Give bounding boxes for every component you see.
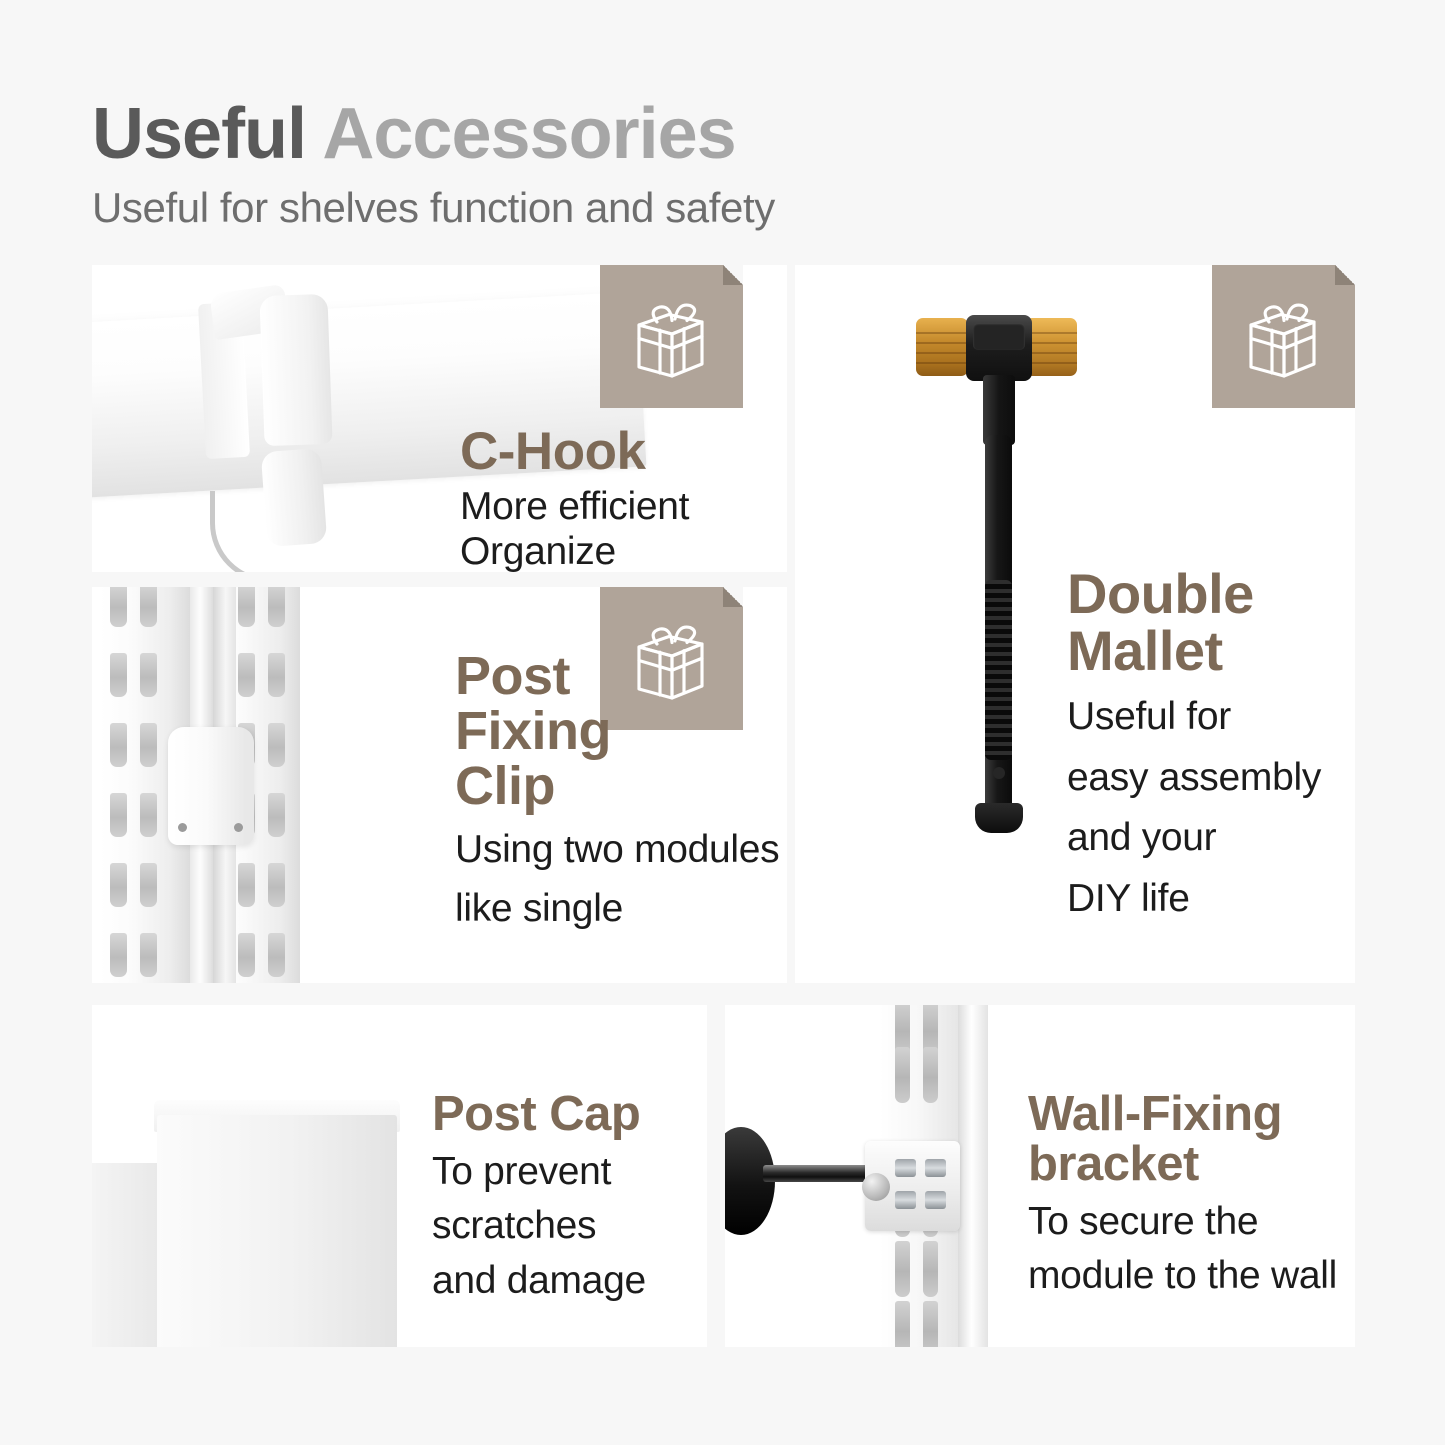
slot-group	[110, 723, 166, 767]
card-heading-line: Fixing	[455, 704, 779, 759]
post-slot	[110, 653, 127, 697]
card-description-line: To prevent	[432, 1150, 646, 1194]
post-slot	[110, 723, 127, 767]
card-description-line: Useful for	[1067, 695, 1321, 739]
post-slot	[110, 793, 127, 837]
mallet-ring	[916, 362, 968, 364]
slot-group	[110, 793, 166, 837]
card-heading: Post Cap	[432, 1090, 646, 1140]
post-behind	[92, 1163, 162, 1347]
card-description-line: module to the wall	[1028, 1254, 1337, 1298]
card-description-line: easy assembly	[1067, 756, 1321, 800]
hook-body	[259, 294, 332, 446]
card-description-line: and your	[1067, 816, 1321, 860]
post-slot	[140, 863, 157, 907]
post-slot	[923, 1047, 938, 1103]
slot-group	[110, 933, 166, 977]
mallet-face-right	[1025, 318, 1077, 376]
card-c-hook: C-Hook More efficient Organize	[92, 265, 787, 572]
gift-box-icon	[1236, 289, 1332, 385]
mallet-ring	[1025, 332, 1077, 334]
slot-group	[110, 587, 166, 627]
post-slot	[140, 793, 157, 837]
card-description-line: To secure the	[1028, 1200, 1337, 1244]
page-title: Useful Accessories	[92, 98, 1192, 170]
card-heading-line: Wall-Fixing	[1028, 1090, 1337, 1140]
post-slot	[140, 653, 157, 697]
badge-folded-corner	[1335, 265, 1355, 285]
card-description-line: DIY life	[1067, 877, 1321, 921]
bracket-bolt	[862, 1173, 890, 1201]
post-slot	[238, 587, 255, 627]
mallet-handle-end	[975, 803, 1023, 833]
post-slot	[238, 653, 255, 697]
text-block-post-fixing-clip: Post Fixing Clip Using two modules like …	[455, 649, 779, 931]
card-heading-line: Mallet	[1067, 622, 1321, 679]
infographic-page: Useful Accessories Useful for shelves fu…	[0, 0, 1445, 1445]
mallet-grip	[985, 580, 1012, 760]
card-heading-line: bracket	[1028, 1140, 1337, 1190]
card-description-line: Using two modules	[455, 828, 779, 872]
post-fixing-clip-part	[168, 727, 254, 845]
text-block-wall-fixing-bracket: Wall-Fixing bracket To secure the module…	[1028, 1090, 1337, 1299]
badge-folded-corner	[723, 587, 743, 607]
post-slot	[895, 1301, 910, 1347]
page-header: Useful Accessories Useful for shelves fu…	[92, 98, 1192, 232]
mallet-ring	[916, 342, 968, 344]
mallet-ring	[916, 332, 968, 334]
card-description-line: like single	[455, 887, 779, 931]
card-post-fixing-clip: Post Fixing Clip Using two modules like …	[92, 587, 787, 983]
post-rail	[958, 1005, 988, 1347]
post-slot	[238, 863, 255, 907]
slot-group	[238, 653, 294, 697]
slot-group	[110, 653, 166, 697]
slot-group	[238, 933, 294, 977]
post-slot	[268, 723, 285, 767]
bracket-hole	[895, 1191, 916, 1209]
post-slot	[110, 587, 127, 627]
mallet-head-plate	[973, 323, 1025, 350]
bracket-hole	[895, 1159, 916, 1177]
card-description-line: and damage	[432, 1259, 646, 1303]
badge-folded-corner	[723, 265, 743, 285]
post-slot	[895, 1241, 910, 1297]
title-part-accessories: Accessories	[322, 94, 735, 174]
page-subtitle: Useful for shelves function and safety	[92, 184, 1192, 232]
slot-group	[238, 587, 294, 627]
post-slot	[140, 723, 157, 767]
card-heading-line: Double	[1067, 565, 1321, 622]
mallet-face-left	[916, 318, 968, 376]
text-block-post-cap: Post Cap To prevent scratches and damage	[432, 1090, 646, 1303]
bracket-hole	[925, 1159, 946, 1177]
post-slot	[268, 933, 285, 977]
hook-wire	[210, 491, 302, 572]
title-part-useful: Useful	[92, 94, 306, 174]
post-slot	[268, 863, 285, 907]
gift-badge	[600, 265, 743, 408]
clip-screw-hole	[178, 823, 187, 832]
mallet-ring	[1025, 362, 1077, 364]
post-slot	[238, 933, 255, 977]
post-slot	[268, 793, 285, 837]
card-wall-fixing-bracket: Wall-Fixing bracket To secure the module…	[725, 1005, 1355, 1347]
slot-group	[238, 863, 294, 907]
mallet-ring	[916, 352, 968, 354]
card-double-mallet: Double Mallet Useful for easy assembly a…	[795, 265, 1355, 983]
mallet-hang-hole	[993, 767, 1005, 779]
post-slot	[923, 1241, 938, 1297]
post-slot	[110, 933, 127, 977]
mallet-ring	[1025, 342, 1077, 344]
card-post-cap: Post Cap To prevent scratches and damage	[92, 1005, 707, 1347]
twin-posts	[92, 587, 307, 983]
card-heading: C-Hook	[460, 425, 787, 479]
card-description-line: scratches	[432, 1204, 646, 1248]
card-heading-line: Clip	[455, 759, 779, 814]
gift-box-icon	[624, 289, 720, 385]
mallet-ring	[1025, 352, 1077, 354]
slot-group	[110, 863, 166, 907]
post-slot	[268, 587, 285, 627]
clip-screw-hole	[234, 823, 243, 832]
post-slot	[923, 1301, 938, 1347]
card-heading-line: Post	[455, 649, 779, 704]
post-slot	[140, 933, 157, 977]
text-block-c-hook: C-Hook More efficient Organize	[460, 425, 787, 572]
bracket-hole	[925, 1191, 946, 1209]
card-description: More efficient Organize	[460, 485, 787, 572]
gift-badge	[1212, 265, 1355, 408]
post-slot	[268, 653, 285, 697]
post-slot	[895, 1047, 910, 1103]
post-cap-body	[157, 1115, 397, 1347]
post-slot	[110, 863, 127, 907]
text-block-double-mallet: Double Mallet Useful for easy assembly a…	[1067, 565, 1321, 921]
post-slot	[140, 587, 157, 627]
